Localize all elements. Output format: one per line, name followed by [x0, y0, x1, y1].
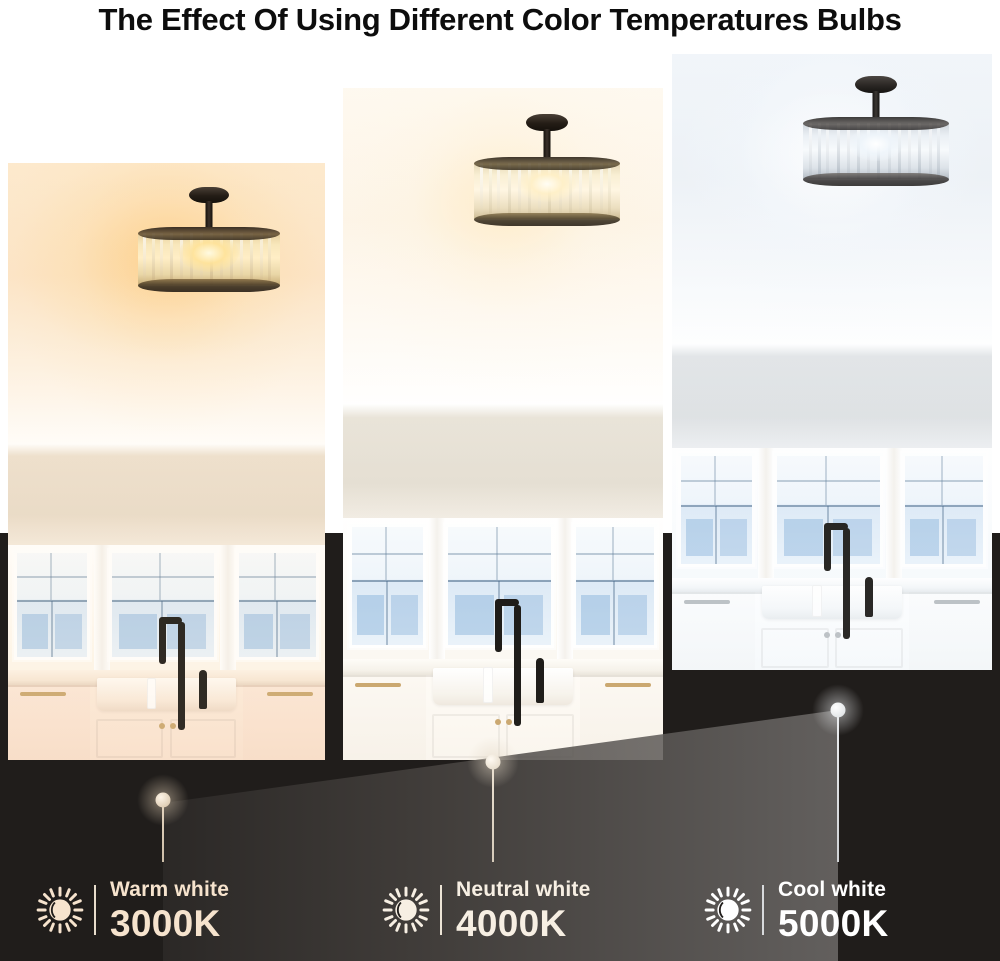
legend-item-warm-white[interactable]: Warm white 3000K — [32, 870, 229, 950]
legend-divider — [94, 885, 96, 935]
legend-item-neutral-white[interactable]: Neutral white 4000K — [378, 870, 590, 950]
infographic-root: The Effect Of Using Different Color Temp… — [0, 0, 1000, 961]
sun-icon — [378, 882, 434, 938]
legend-kelvin-warm-white: 3000K — [110, 905, 229, 942]
page-title-text: The Effect Of Using Different Color Temp… — [98, 2, 901, 38]
legend-label-warm-white: Warm white — [110, 879, 229, 900]
page-title: The Effect Of Using Different Color Temp… — [0, 0, 1000, 40]
connector-stem-neutral — [492, 762, 494, 862]
sun-icon — [32, 882, 88, 938]
legend-item-cool-white[interactable]: Cool white 5000K — [700, 870, 889, 950]
legend-label-cool-white: Cool white — [778, 879, 889, 900]
connector-markers — [0, 0, 1000, 961]
legend-divider — [440, 885, 442, 935]
legend-divider — [762, 885, 764, 935]
marker-dot-neutral[interactable] — [486, 755, 501, 770]
connector-stem-cool — [837, 710, 839, 862]
marker-dot-cool[interactable] — [831, 703, 846, 718]
sun-icon — [700, 882, 756, 938]
marker-dot-warm[interactable] — [156, 793, 171, 808]
legend-kelvin-neutral-white: 4000K — [456, 905, 590, 942]
color-temperature-legend: Warm white 3000K — [0, 862, 1000, 961]
legend-label-neutral-white: Neutral white — [456, 879, 590, 900]
connector-stem-warm — [162, 800, 164, 862]
legend-kelvin-cool-white: 5000K — [778, 905, 889, 942]
